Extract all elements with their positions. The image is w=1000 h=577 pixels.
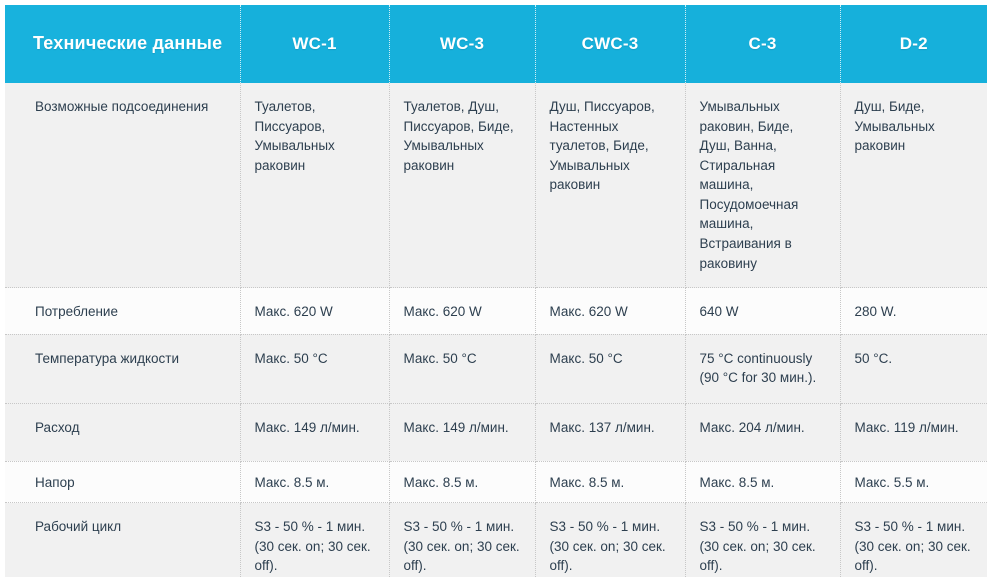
cell-text: Душ, Писсуаров, Настенных туалетов, Биде… <box>550 97 673 195</box>
cell-temperature-cwc-3: Макс. 50 °C <box>535 334 685 403</box>
cell-flow-wc-1: Макс. 149 л/мин. <box>240 403 389 461</box>
header-row: Технические данные WC-1 WC-3 CWC-3 C-3 D… <box>5 5 987 83</box>
cell-consumption-wc-3: Макс. 620 W <box>389 288 535 335</box>
cell-connections-wc-3: Туалетов, Душ, Писсуаров, Биде, Умывальн… <box>389 83 535 288</box>
cell-head-wc-1: Макс. 8.5 м. <box>240 461 389 503</box>
cell-text: Макс. 8.5 м. <box>255 473 377 493</box>
row-label-duty-cycle: Рабочий цикл <box>5 503 240 577</box>
cell-text: Туалетов, Писсуаров, Умывальных раковин <box>255 97 377 175</box>
cell-text: Макс. 50 °C <box>550 349 673 369</box>
header-wc-3: WC-3 <box>389 5 535 83</box>
cell-text: Макс. 50 °C <box>255 349 377 369</box>
cell-text: 75 °C continuously (90 °C for 30 мин.). <box>700 349 828 388</box>
cell-text: Макс. 5.5 м. <box>855 473 976 493</box>
cell-consumption-c-3: 640 W <box>685 288 840 335</box>
cell-text: S3 - 50 % - 1 мин. (30 сек. on; 30 сек. … <box>855 517 976 576</box>
row-label-connections: Возможные подсоединения <box>5 83 240 288</box>
cell-text: Макс. 620 W <box>404 302 523 322</box>
cell-connections-wc-1: Туалетов, Писсуаров, Умывальных раковин <box>240 83 389 288</box>
cell-text: 50 °C. <box>855 349 976 369</box>
cell-head-d-2: Макс. 5.5 м. <box>840 461 987 503</box>
cell-duty-c-3: S3 - 50 % - 1 мин. (30 сек. on; 30 сек. … <box>685 503 840 577</box>
cell-text: Макс. 8.5 м. <box>550 473 673 493</box>
cell-text: Туалетов, Душ, Писсуаров, Биде, Умывальн… <box>404 97 523 175</box>
cell-temperature-wc-1: Макс. 50 °C <box>240 334 389 403</box>
table-body: Возможные подсоединения Туалетов, Писсуа… <box>5 83 987 577</box>
cell-text: Макс. 620 W <box>550 302 673 322</box>
technical-data-table: Технические данные WC-1 WC-3 CWC-3 C-3 D… <box>5 5 987 577</box>
table-row: Рабочий цикл S3 - 50 % - 1 мин. (30 сек.… <box>5 503 987 577</box>
header-cwc-3: CWC-3 <box>535 5 685 83</box>
cell-head-cwc-3: Макс. 8.5 м. <box>535 461 685 503</box>
cell-head-c-3: Макс. 8.5 м. <box>685 461 840 503</box>
cell-temperature-c-3: 75 °C continuously (90 °C for 30 мин.). <box>685 334 840 403</box>
cell-text: S3 - 50 % - 1 мин. (30 сек. on; 30 сек. … <box>550 517 673 576</box>
cell-text: S3 - 50 % - 1 мин. (30 сек. on; 30 сек. … <box>700 517 828 576</box>
cell-text: Макс. 204 л/мин. <box>700 418 828 438</box>
table-row: Напор Макс. 8.5 м. Макс. 8.5 м. Макс. 8.… <box>5 461 987 503</box>
header-spec-name: Технические данные <box>5 5 240 83</box>
cell-consumption-d-2: 280 W. <box>840 288 987 335</box>
cell-consumption-wc-1: Макс. 620 W <box>240 288 389 335</box>
cell-text: Умывальных раковин, Биде, Душ, Ванна, Ст… <box>700 97 828 273</box>
table-row: Температура жидкости Макс. 50 °C Макс. 5… <box>5 334 987 403</box>
table-row: Потребление Макс. 620 W Макс. 620 W Макс… <box>5 288 987 335</box>
cell-text: Макс. 149 л/мин. <box>255 418 377 438</box>
cell-consumption-cwc-3: Макс. 620 W <box>535 288 685 335</box>
row-label-liquid-temperature: Температура жидкости <box>5 334 240 403</box>
cell-text: 280 W. <box>855 302 976 322</box>
cell-text: Макс. 620 W <box>255 302 377 322</box>
cell-text: Макс. 119 л/мин. <box>855 418 976 438</box>
cell-connections-c-3: Умывальных раковин, Биде, Душ, Ванна, Ст… <box>685 83 840 288</box>
cell-flow-d-2: Макс. 119 л/мин. <box>840 403 987 461</box>
specification-table-container: Технические данные WC-1 WC-3 CWC-3 C-3 D… <box>0 0 1000 577</box>
cell-duty-cwc-3: S3 - 50 % - 1 мин. (30 сек. on; 30 сек. … <box>535 503 685 577</box>
cell-duty-wc-3: S3 - 50 % - 1 мин. (30 сек. on; 30 сек. … <box>389 503 535 577</box>
header-d-2: D-2 <box>840 5 987 83</box>
table-row: Расход Макс. 149 л/мин. Макс. 149 л/мин.… <box>5 403 987 461</box>
cell-text: Макс. 137 л/мин. <box>550 418 673 438</box>
cell-text: Макс. 8.5 м. <box>404 473 523 493</box>
cell-text: Макс. 149 л/мин. <box>404 418 523 438</box>
cell-connections-cwc-3: Душ, Писсуаров, Настенных туалетов, Биде… <box>535 83 685 288</box>
header-wc-1: WC-1 <box>240 5 389 83</box>
cell-temperature-wc-3: Макс. 50 °C <box>389 334 535 403</box>
cell-text: 640 W <box>700 302 828 322</box>
cell-flow-wc-3: Макс. 149 л/мин. <box>389 403 535 461</box>
header-c-3: C-3 <box>685 5 840 83</box>
cell-text: Макс. 8.5 м. <box>700 473 828 493</box>
cell-text: Душ, Биде, Умывальных раковин <box>855 97 976 156</box>
cell-head-wc-3: Макс. 8.5 м. <box>389 461 535 503</box>
table-header: Технические данные WC-1 WC-3 CWC-3 C-3 D… <box>5 5 987 83</box>
cell-duty-d-2: S3 - 50 % - 1 мин. (30 сек. on; 30 сек. … <box>840 503 987 577</box>
cell-flow-cwc-3: Макс. 137 л/мин. <box>535 403 685 461</box>
cell-text: Макс. 50 °C <box>404 349 523 369</box>
row-label-head-pressure: Напор <box>5 461 240 503</box>
cell-text: S3 - 50 % - 1 мин. (30 сек. on; 30 сек. … <box>404 517 523 576</box>
cell-flow-c-3: Макс. 204 л/мин. <box>685 403 840 461</box>
cell-temperature-d-2: 50 °C. <box>840 334 987 403</box>
row-label-consumption: Потребление <box>5 288 240 335</box>
row-label-flow-rate: Расход <box>5 403 240 461</box>
table-row: Возможные подсоединения Туалетов, Писсуа… <box>5 83 987 288</box>
cell-duty-wc-1: S3 - 50 % - 1 мин. (30 сек. on; 30 сек. … <box>240 503 389 577</box>
cell-text: S3 - 50 % - 1 мин. (30 сек. on; 30 сек. … <box>255 517 377 576</box>
cell-connections-d-2: Душ, Биде, Умывальных раковин <box>840 83 987 288</box>
